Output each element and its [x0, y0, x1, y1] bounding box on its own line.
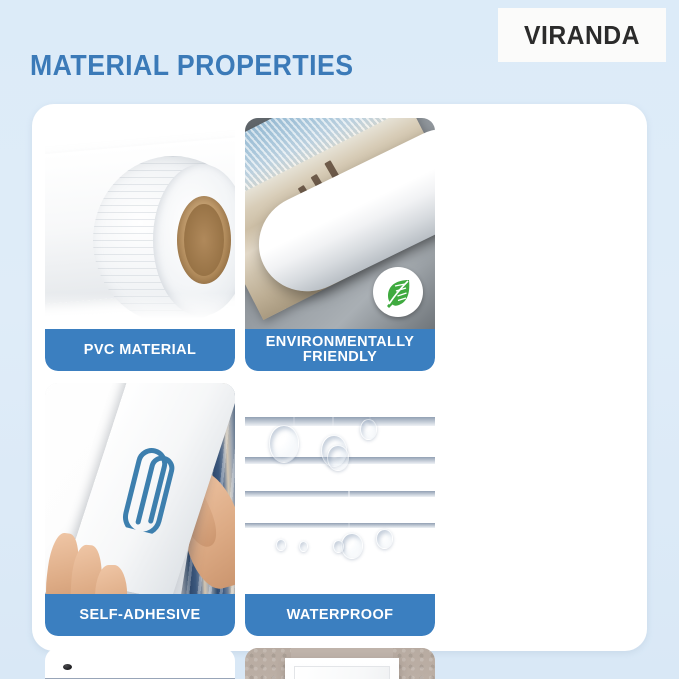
- feature-tile-no-glue[interactable]: NO GLUE: [245, 648, 435, 679]
- leaf-icon: [373, 267, 423, 317]
- feature-label-waterproof: WATERPROOF: [245, 594, 435, 636]
- wood-texture-shape: [45, 648, 235, 679]
- page-title: MATERIAL PROPERTIES: [30, 50, 353, 83]
- water-droplet: [341, 533, 363, 559]
- feature-label-pvc-material: PVC MATERIAL: [45, 329, 235, 371]
- feature-card: PVC MATERIAL: [32, 104, 647, 651]
- wood-grain-band: [245, 417, 435, 426]
- easy-to-clean-image: [45, 648, 235, 679]
- feature-label-self-adhesive: SELF-ADHESIVE: [45, 594, 235, 636]
- wood-grain-band: [245, 491, 435, 497]
- no-glue-image: [245, 648, 435, 679]
- water-droplet: [269, 425, 299, 463]
- water-droplet: [299, 541, 308, 552]
- roll-fade-shape: [45, 293, 235, 329]
- wood-texture-shape: [245, 383, 435, 594]
- feature-tile-self-adhesive[interactable]: SELF-ADHESIVE: [45, 383, 235, 636]
- wood-grain-band: [245, 523, 435, 528]
- feature-tile-environmentally-friendly[interactable]: ENVIRONMENTALLY FRIENDLY: [245, 118, 435, 371]
- brand-logo-text: VIRANDA: [524, 20, 640, 51]
- water-droplet: [376, 529, 393, 549]
- feature-tile-pvc-material[interactable]: PVC MATERIAL: [45, 118, 235, 371]
- feature-grid: PVC MATERIAL: [45, 118, 634, 679]
- water-droplet: [360, 419, 377, 440]
- feature-label-environmentally-friendly: ENVIRONMENTALLY FRIENDLY: [245, 329, 435, 371]
- right-wall-shape: [393, 648, 435, 679]
- droplet-trail: [332, 389, 334, 437]
- brand-logo: VIRANDA: [498, 8, 666, 62]
- self-adhesive-image: [45, 383, 235, 594]
- roll-core-inner-shape: [184, 204, 224, 276]
- water-droplet: [327, 445, 349, 471]
- pvc-roll-image: [45, 118, 235, 329]
- droplet-trail: [293, 387, 295, 429]
- feature-tile-waterproof[interactable]: WATERPROOF: [245, 383, 435, 636]
- droplet-trail: [369, 387, 371, 421]
- water-droplet: [276, 539, 286, 551]
- page-header: MATERIAL PROPERTIES VIRANDA: [0, 0, 679, 105]
- door-slab-shape: [294, 666, 390, 679]
- door-frame-shape: [285, 658, 399, 679]
- water-droplet: [333, 540, 344, 553]
- waterproof-image: [245, 383, 435, 594]
- stain-mark: [63, 664, 72, 670]
- eco-poster-image: [245, 118, 435, 329]
- droplet-trail: [348, 479, 350, 539]
- feature-tile-easy-to-clean[interactable]: EASY TO CLEAN: [45, 648, 235, 679]
